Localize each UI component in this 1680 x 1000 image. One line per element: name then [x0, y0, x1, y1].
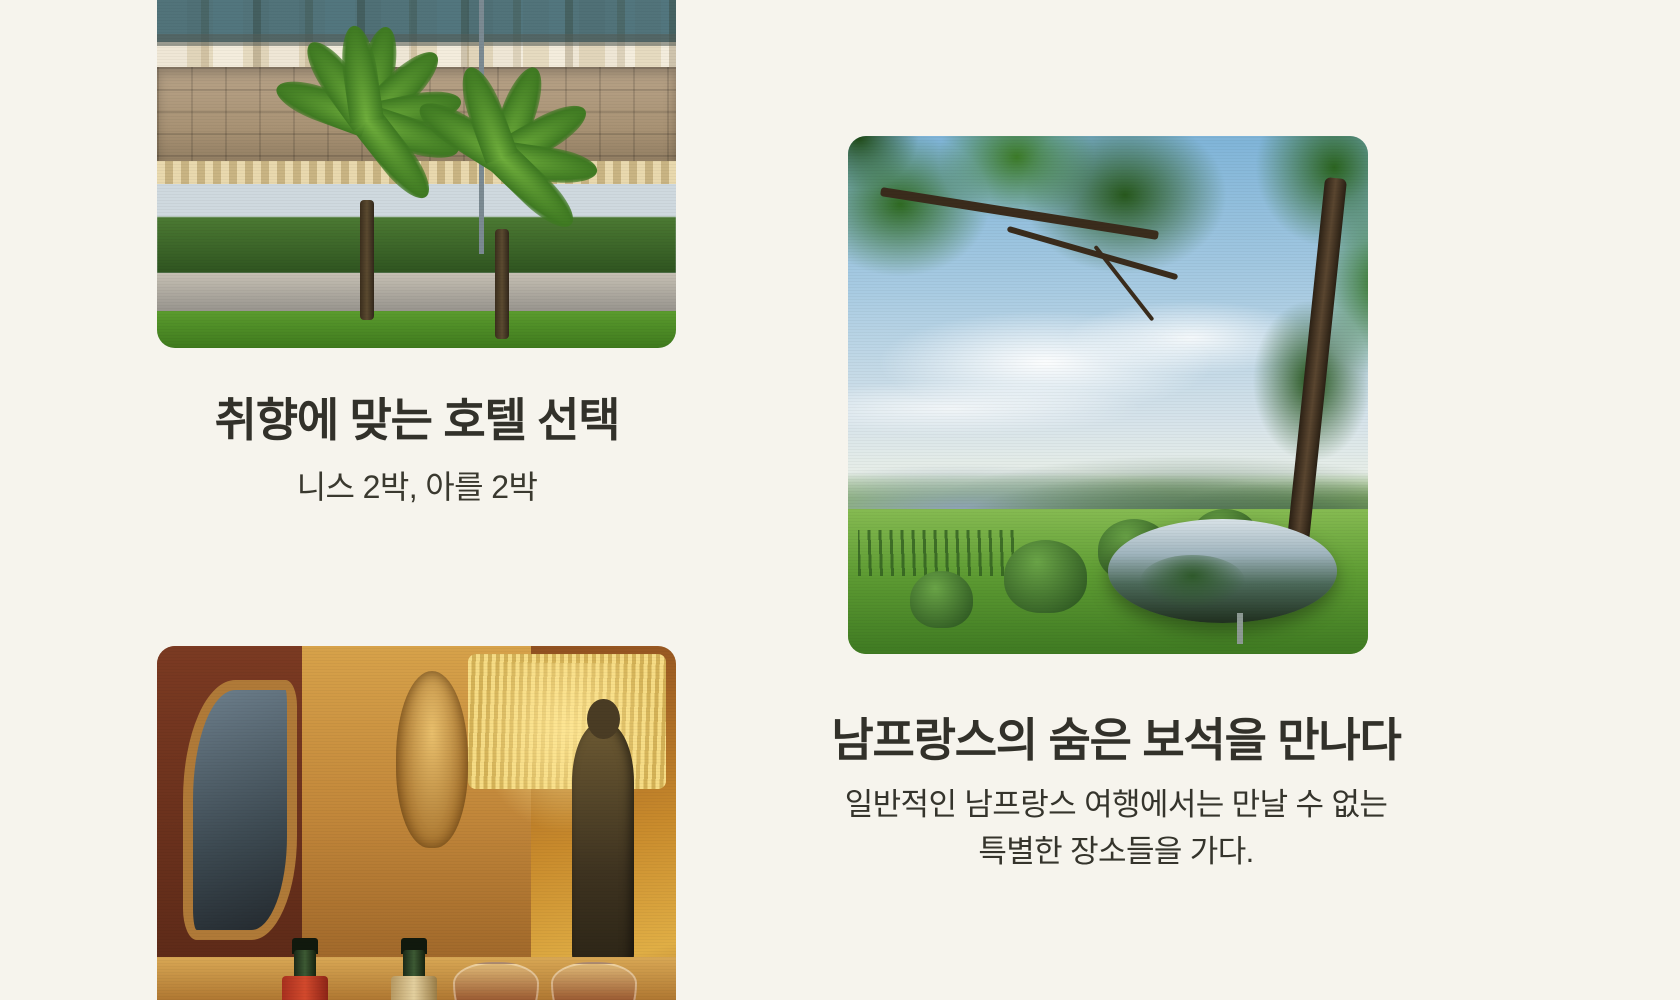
- provence-landscape-card[interactable]: [848, 136, 1368, 654]
- feature-body: 일반적인 남프랑스 여행에서는 만날 수 없는 특별한 장소들을 가다.: [744, 782, 1488, 875]
- feature-body-line-2: 특별한 장소들을 가다.: [744, 829, 1488, 876]
- hotel-text-block: 취향에 맞는 호텔 선택 니스 2박, 아를 2박: [97, 392, 737, 511]
- feature-headline: 남프랑스의 숨은 보석을 만나다: [744, 712, 1488, 768]
- hotel-facade-photo: [157, 0, 676, 348]
- provence-landscape-photo: [848, 136, 1368, 654]
- wine-glass: [453, 966, 539, 1000]
- wine-glass: [551, 966, 637, 1000]
- wine-bar-interior-photo: [157, 646, 676, 1000]
- hotel-headline: 취향에 맞는 호텔 선택: [97, 392, 737, 448]
- feature-text-block: 남프랑스의 숨은 보석을 만나다 일반적인 남프랑스 여행에서는 만날 수 없는…: [744, 712, 1488, 875]
- feature-section-page: 취향에 맞는 호텔 선택 니스 2박, 아를 2박 남프랑스의 숨은: [0, 0, 1680, 1000]
- bronze-statuette: [572, 722, 634, 974]
- wine-bar-card[interactable]: [157, 646, 676, 1000]
- feature-body-line-1: 일반적인 남프랑스 여행에서는 만날 수 없는: [744, 782, 1488, 829]
- hotel-facade-card[interactable]: [157, 0, 676, 348]
- hotel-subline: 니스 2박, 아를 2박: [97, 464, 737, 510]
- mirrored-dome-sculpture: [1108, 519, 1337, 623]
